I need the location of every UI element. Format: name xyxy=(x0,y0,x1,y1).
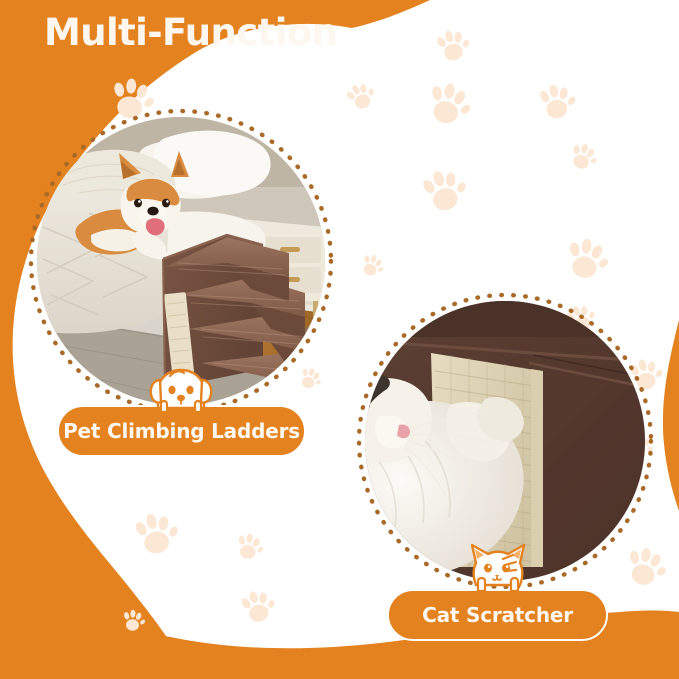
bedroom-photo xyxy=(37,117,325,405)
photo-cat-scratcher xyxy=(365,301,645,581)
feature-card-cat-scratcher xyxy=(352,288,658,594)
cat-scratcher-photo xyxy=(365,301,645,581)
feature-label-cat-scratcher[interactable]: Cat Scratcher xyxy=(387,589,608,641)
photo-pet-climbing-ladders xyxy=(37,117,325,405)
feature-label-pet-climbing-ladders[interactable]: Pet Climbing Ladders xyxy=(57,405,306,457)
page-title: Multi-Function xyxy=(44,11,337,54)
promo-banner: Multi-Function xyxy=(0,0,679,679)
feature-card-pet-climbing-ladders xyxy=(24,104,338,418)
